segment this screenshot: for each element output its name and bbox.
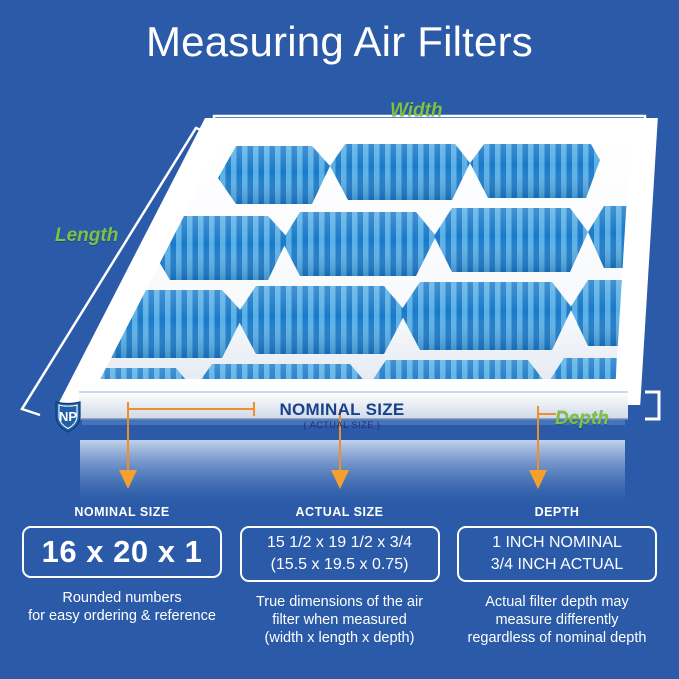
length-label: Length — [55, 225, 118, 247]
card-value-box: 15 1/2 x 19 1/2 x 3/4(15.5 x 19.5 x 0.75… — [240, 526, 440, 582]
card-depth: DEPTH 1 INCH NOMINAL3/4 INCH ACTUAL Actu… — [457, 505, 657, 647]
card-value: 16 x 20 x 1 — [42, 534, 203, 570]
card-caption: True dimensions of the airfilter when me… — [240, 593, 440, 647]
card-actual-size: ACTUAL SIZE 15 1/2 x 19 1/2 x 3/4(15.5 x… — [240, 505, 440, 647]
infographic-canvas: NP Measuring Air Filters Width Length De… — [0, 0, 679, 679]
depth-dimension-bracket — [645, 392, 659, 419]
card-value: 15 1/2 x 19 1/2 x 3/4(15.5 x 19.5 x 0.75… — [267, 532, 412, 576]
card-caption: Actual filter depth maymeasure different… — [457, 593, 657, 647]
card-heading: ACTUAL SIZE — [240, 505, 440, 519]
card-value: 1 INCH NOMINAL3/4 INCH ACTUAL — [491, 532, 623, 576]
svg-text:NP: NP — [59, 409, 77, 424]
card-value-box: 16 x 20 x 1 — [22, 526, 222, 578]
card-heading: NOMINAL SIZE — [22, 505, 222, 519]
summary-cards: NOMINAL SIZE 16 x 20 x 1 Rounded numbers… — [0, 505, 679, 647]
page-title: Measuring Air Filters — [0, 18, 679, 66]
shield-logo: NP — [56, 402, 80, 432]
card-heading: DEPTH — [457, 505, 657, 519]
card-caption: Rounded numbersfor easy ordering & refer… — [22, 589, 222, 625]
depth-label: Depth — [555, 408, 609, 430]
width-label: Width — [390, 100, 443, 122]
card-nominal-size: NOMINAL SIZE 16 x 20 x 1 Rounded numbers… — [22, 505, 222, 647]
card-value-box: 1 INCH NOMINAL3/4 INCH ACTUAL — [457, 526, 657, 582]
